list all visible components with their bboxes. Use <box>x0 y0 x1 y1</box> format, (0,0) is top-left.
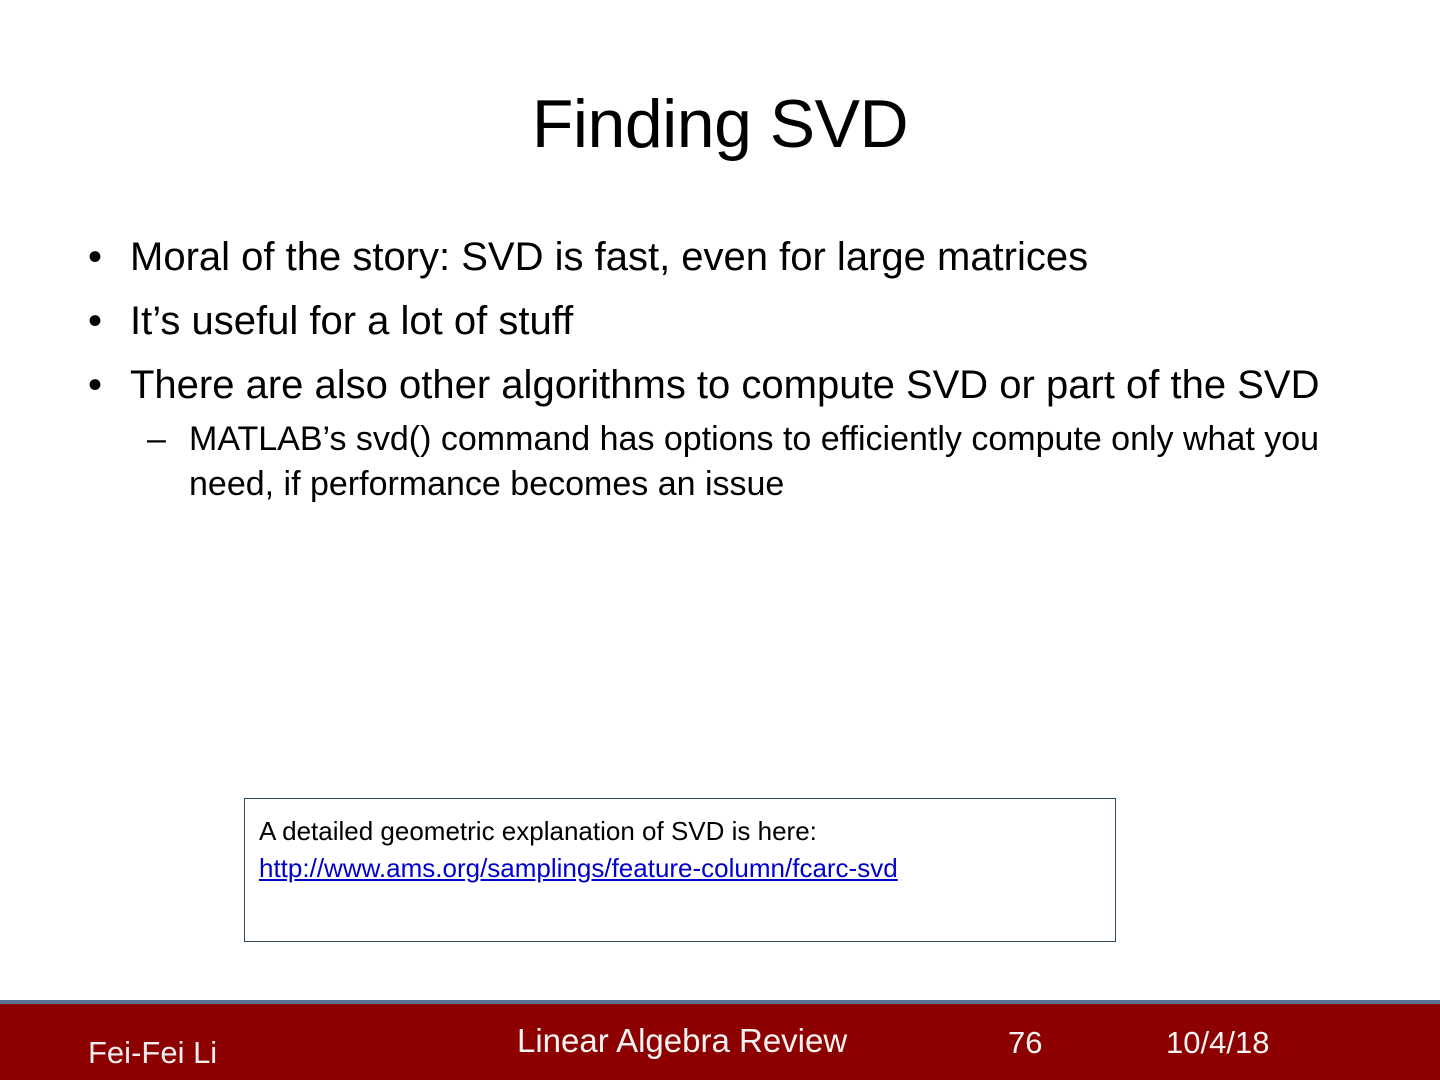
bullet-marker-icon: • <box>88 231 102 283</box>
footer-subject: Linear Algebra Review <box>517 1021 847 1061</box>
bullet-item-2: • It’s useful for a lot of stuff <box>72 295 1362 347</box>
slide-canvas: Finding SVD • Moral of the story: SVD is… <box>0 0 1440 1080</box>
bullet-item-2-text: It’s useful for a lot of stuff <box>130 299 573 343</box>
slide-footer-bar: Fei-Fei Li Linear Algebra Review 76 10/4… <box>0 1000 1440 1080</box>
bullet-item-1-text: Moral of the story: SVD is fast, even fo… <box>130 235 1088 279</box>
svd-reference-link[interactable]: http://www.ams.org/samplings/feature-col… <box>259 850 898 887</box>
slide-body: • Moral of the story: SVD is fast, even … <box>72 231 1362 507</box>
callout-box: A detailed geometric explanation of SVD … <box>244 798 1116 942</box>
bullet-item-3: • There are also other algorithms to com… <box>72 359 1325 411</box>
sub-bullet-item-1: – MATLAB’s svd() command has options to … <box>72 417 1362 507</box>
bullet-item-3-text: There are also other algorithms to compu… <box>130 363 1319 407</box>
callout-content: A detailed geometric explanation of SVD … <box>245 799 1115 887</box>
sub-bullet-item-1-text: MATLAB’s svd() command has options to ef… <box>189 417 1349 507</box>
footer-date: 10/4/18 <box>1166 1024 1269 1061</box>
dash-marker-icon: – <box>147 417 166 462</box>
callout-caption: A detailed geometric explanation of SVD … <box>259 813 1115 850</box>
bullet-item-1: • Moral of the story: SVD is fast, even … <box>72 231 1362 283</box>
footer-page-number: 76 <box>1008 1024 1042 1061</box>
bullet-marker-icon: • <box>88 359 102 411</box>
page-title: Finding SVD <box>0 88 1440 161</box>
footer-author: Fei-Fei Li <box>88 1034 217 1071</box>
bullet-marker-icon: • <box>88 295 102 347</box>
